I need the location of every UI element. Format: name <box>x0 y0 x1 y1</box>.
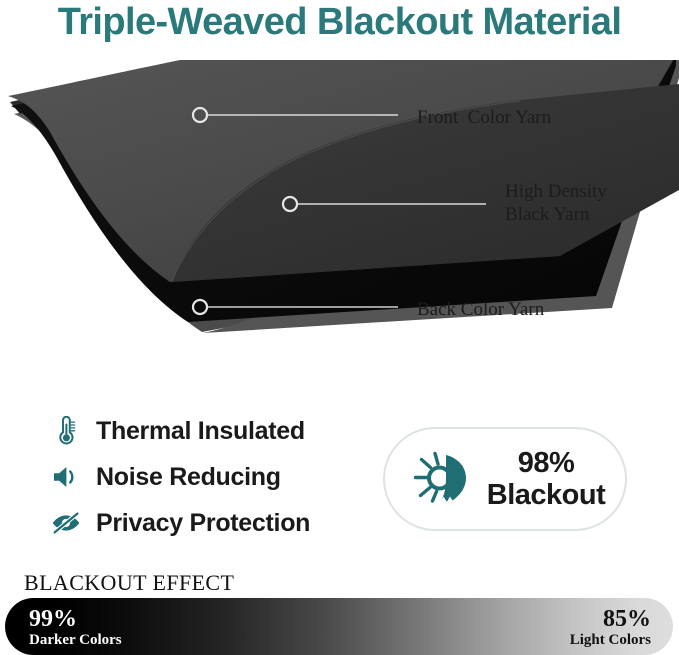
page-title: Triple-Weaved Blackout Material <box>0 0 679 44</box>
callout-label-high-density-black-yarn: High Density Black Yarn <box>505 180 607 226</box>
blackout-effect-title: BLACKOUT EFFECT <box>24 570 234 596</box>
gradient-bar-right-end: 85% Light Colors <box>570 607 651 649</box>
feature-label-noise-reducing: Noise Reducing <box>96 463 281 491</box>
badge-text-block: 98% Blackout <box>487 447 605 511</box>
badge-percent: 98% <box>487 447 605 479</box>
blackout-effect-gradient-bar: 99% Darker Colors 85% Light Colors <box>5 598 673 655</box>
badge-word: Blackout <box>487 479 605 511</box>
light-colors-caption: Light Colors <box>570 632 651 649</box>
thermometer-icon <box>48 414 84 448</box>
gradient-bar-left-end: 99% Darker Colors <box>29 607 122 649</box>
feature-noise-reducing: Noise Reducing <box>48 454 368 500</box>
speaker-sound-icon <box>48 460 84 494</box>
light-colors-percent: 85% <box>570 607 651 632</box>
eye-slash-icon <box>48 506 84 540</box>
feature-list: Thermal Insulated Noise Reducing Privacy… <box>48 408 368 546</box>
darker-colors-percent: 99% <box>29 607 122 632</box>
feature-label-privacy-protection: Privacy Protection <box>96 509 310 537</box>
blackout-percentage-badge: 98% Blackout <box>383 427 627 531</box>
callout-label-back-color-yarn: Back Color Yarn <box>417 298 544 321</box>
callout-label-front-color-yarn: Front Color Yarn <box>417 106 551 129</box>
darker-colors-caption: Darker Colors <box>29 632 122 649</box>
feature-label-thermal-insulated: Thermal Insulated <box>96 417 305 445</box>
feature-privacy-protection: Privacy Protection <box>48 500 368 546</box>
sun-blocked-by-curtain-icon <box>405 446 481 512</box>
feature-thermal-insulated: Thermal Insulated <box>48 408 368 454</box>
